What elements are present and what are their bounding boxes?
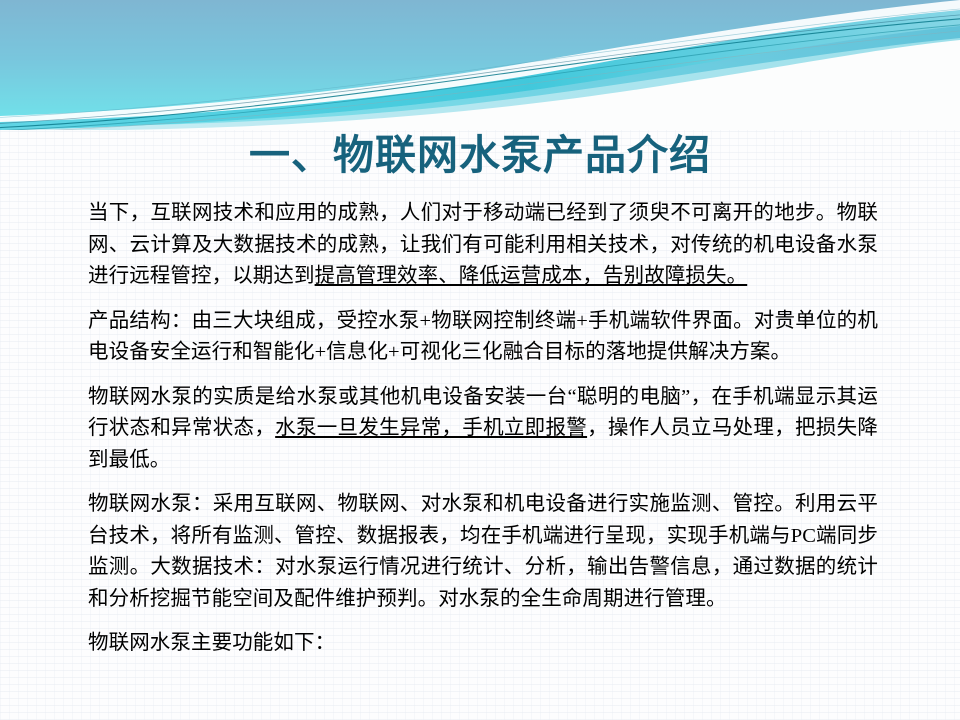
text-run-plain: 物联网水泵主要功能如下： — [88, 632, 335, 654]
presentation-slide: 一、物联网水泵产品介绍 当下，互联网技术和应用的成熟，人们对于移动端已经到了须臾… — [0, 0, 960, 720]
paragraph-3: 物联网水泵的实质是给水泵或其他机电设备安装一台“聪明的电脑”，在手机端显示其运行… — [88, 382, 878, 477]
paragraph-5: 物联网水泵主要功能如下： — [88, 628, 878, 660]
text-run-underlined: 提高管理效率、降低运营成本，告别故障损失。 — [315, 265, 748, 287]
page-title: 一、物联网水泵产品介绍 — [249, 131, 711, 179]
title-row: 一、物联网水泵产品介绍 — [0, 104, 960, 207]
paragraph-2: 产品结构：由三大块组成，受控水泵+物联网控制终端+手机端软件界面。对贵单位的机电… — [88, 306, 878, 369]
paragraph-1: 当下，互联网技术和应用的成熟，人们对于移动端已经到了须臾不可离开的地步。物联网、… — [88, 198, 878, 293]
text-run-underlined: 水泵一旦发生异常，手机立即报警 — [275, 417, 587, 439]
text-run-plain: 物联网水泵：采用互联网、物联网、对水泵和机电设备进行实施监测、管控。利用云平台技… — [88, 493, 878, 610]
slide-body-content: 当下，互联网技术和应用的成熟，人们对于移动端已经到了须臾不可离开的地步。物联网、… — [88, 198, 878, 660]
paragraph-4: 物联网水泵：采用互联网、物联网、对水泵和机电设备进行实施监测、管控。利用云平台技… — [88, 489, 878, 615]
text-run-plain: 产品结构：由三大块组成，受控水泵+物联网控制终端+手机端软件界面。对贵单位的机电… — [88, 310, 878, 364]
